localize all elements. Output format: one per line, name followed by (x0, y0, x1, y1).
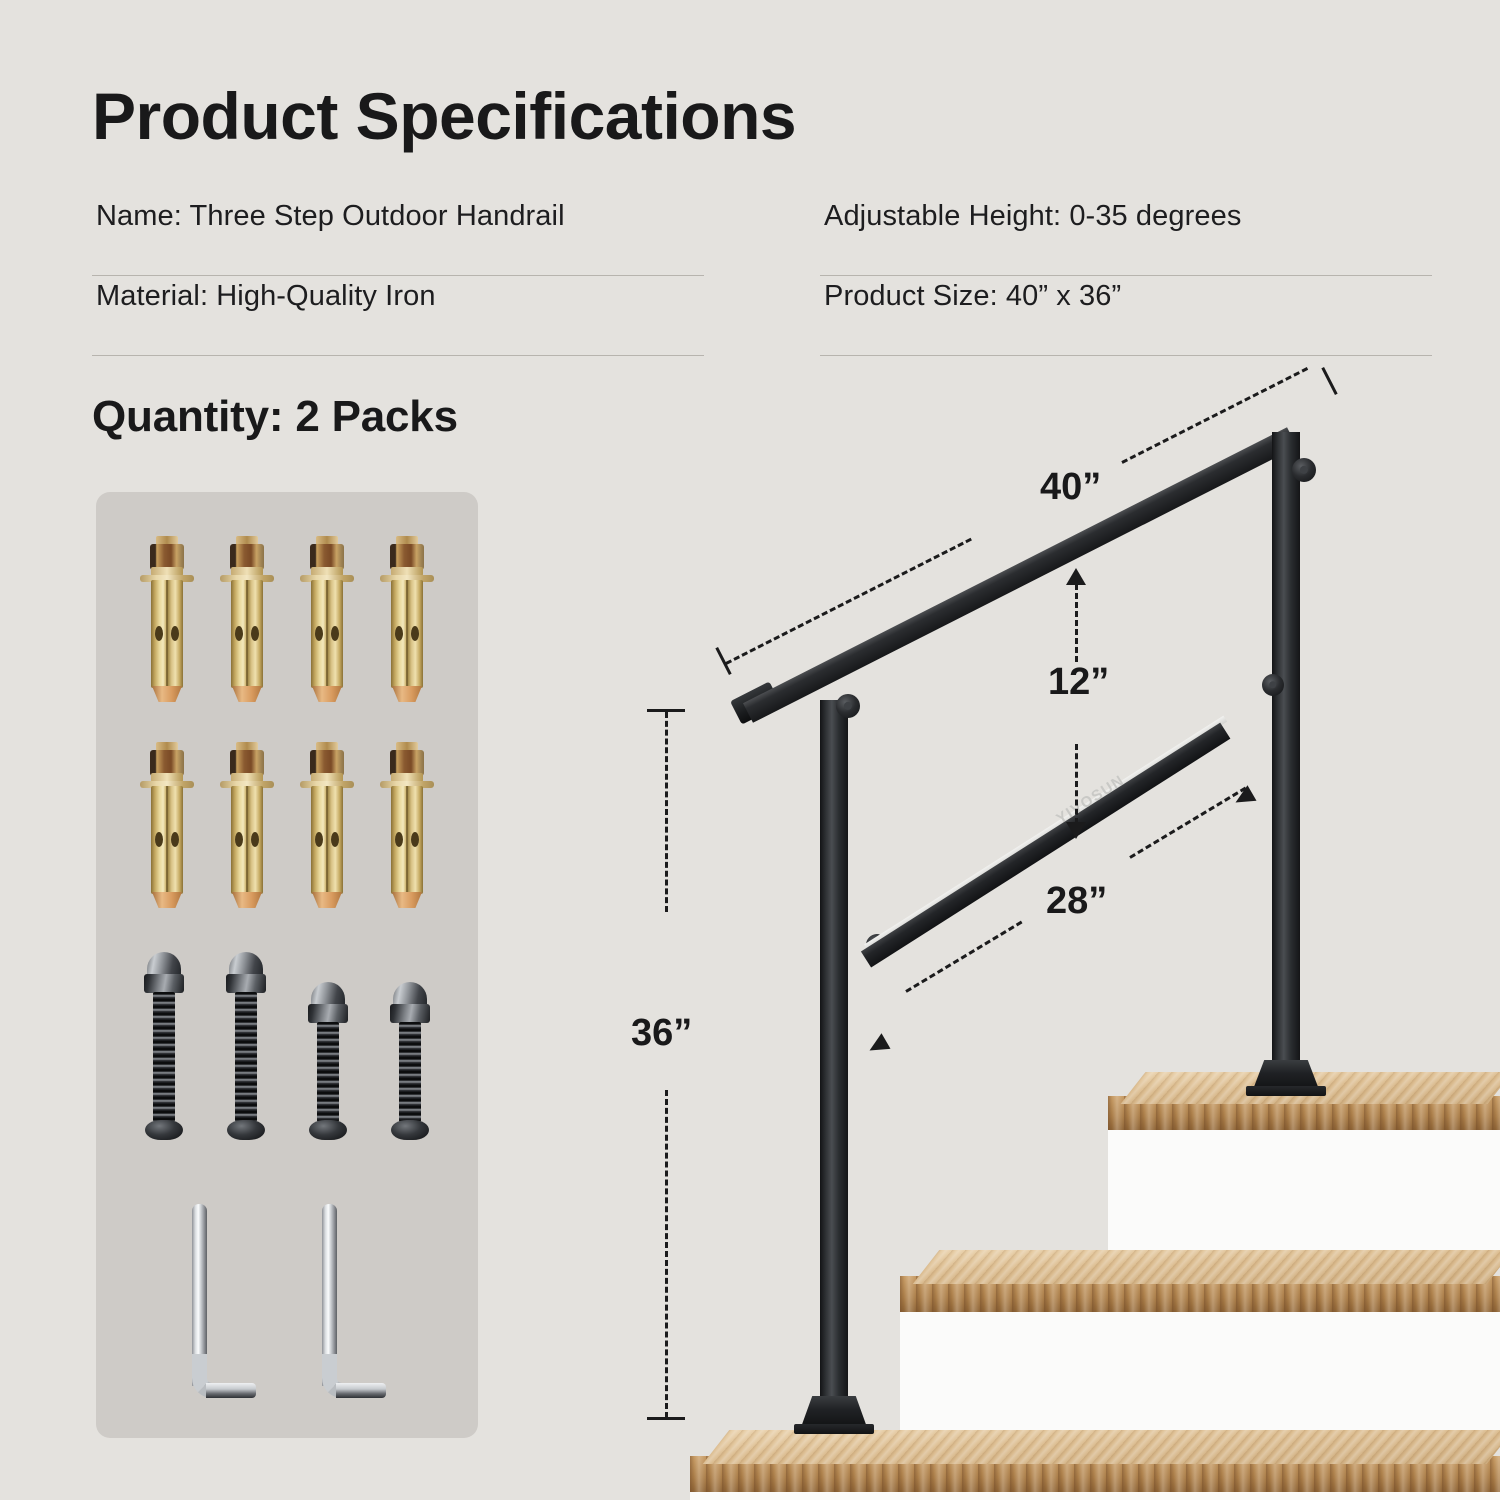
dim-arrow-12-bottom (1066, 822, 1086, 839)
handrail-post-right (1272, 432, 1300, 1084)
spec-column-right: Adjustable Height: 0-35 degrees Product … (820, 196, 1432, 356)
spec-divider (820, 355, 1432, 356)
parts-panel (96, 492, 478, 1438)
joint-bolt-icon (836, 694, 860, 718)
anchor-bolt-icon (379, 740, 435, 910)
anchor-bolt-icon (219, 740, 275, 910)
dim-line-12-upper (1075, 584, 1078, 662)
anchor-bolt-icon (299, 740, 355, 910)
hex-wrench-icon (316, 1204, 388, 1404)
cap-bolt-icon (136, 952, 192, 1157)
dim-label-40: 40” (1040, 466, 1101, 509)
post-base-plate-right (1246, 1086, 1326, 1096)
spec-row-adjustable-height: Adjustable Height: 0-35 degrees (820, 196, 1432, 276)
page-title: Product Specifications (92, 78, 796, 154)
upper-handrail (743, 427, 1297, 723)
hex-wrench-row (96, 1204, 478, 1404)
hex-wrench-icon (186, 1204, 258, 1404)
handrail-post-left (820, 700, 848, 1424)
dim-cap-40-end (1321, 367, 1337, 395)
stair-riser (900, 1292, 1500, 1442)
dim-line-36-upper (665, 712, 668, 912)
spec-text-material: Material: High-Quality Iron (96, 280, 436, 313)
anchor-bolt-icon (299, 534, 355, 704)
spec-row-product-size: Product Size: 40” x 36” (820, 276, 1432, 356)
anchor-bolt-icon (219, 534, 275, 704)
joint-bolt-icon (1262, 674, 1284, 696)
dim-arrow-12-top (1066, 568, 1086, 585)
dim-cap-36-bottom (647, 1417, 685, 1420)
anchor-bolt-icon (139, 740, 195, 910)
product-specification-infographic: Product Specifications Name: Three Step … (0, 0, 1500, 1500)
post-base-plate-left (794, 1424, 874, 1434)
anchor-bolt-icon (139, 534, 195, 704)
spec-row-material: Material: High-Quality Iron (92, 276, 704, 356)
dim-line-28-upper (1129, 787, 1246, 859)
dim-line-40-lower (725, 538, 972, 665)
anchor-bolt-row-1 (96, 534, 478, 704)
dim-label-36: 36” (631, 1012, 692, 1055)
anchor-bolt-icon (379, 534, 435, 704)
joint-bolt-icon (1292, 458, 1316, 482)
spec-text-product-size: Product Size: 40” x 36” (824, 280, 1121, 313)
spec-row-name: Name: Three Step Outdoor Handrail (92, 196, 704, 276)
cap-bolt-icon (218, 952, 274, 1157)
dim-label-28: 28” (1046, 880, 1107, 923)
dim-arrow-28-lower (865, 1033, 890, 1058)
spec-divider (92, 355, 704, 356)
dim-label-12: 12” (1048, 661, 1109, 704)
dim-line-36-lower (665, 1090, 668, 1418)
stair-tread-top (703, 1430, 1500, 1464)
spec-text-adjustable-height: Adjustable Height: 0-35 degrees (824, 200, 1241, 233)
cap-bolt-row (96, 952, 478, 1157)
spec-text-name: Name: Three Step Outdoor Handrail (96, 200, 565, 233)
quantity-heading: Quantity: 2 Packs (92, 392, 458, 442)
dim-line-12-lower (1075, 744, 1078, 824)
cap-bolt-icon (382, 982, 438, 1157)
anchor-bolt-row-2 (96, 740, 478, 910)
cap-bolt-icon (300, 982, 356, 1157)
stair-tread-top (913, 1250, 1500, 1284)
stair-riser (1108, 1110, 1500, 1260)
lower-handrail (861, 723, 1230, 968)
spec-column-left: Name: Three Step Outdoor Handrail Materi… (92, 196, 704, 356)
